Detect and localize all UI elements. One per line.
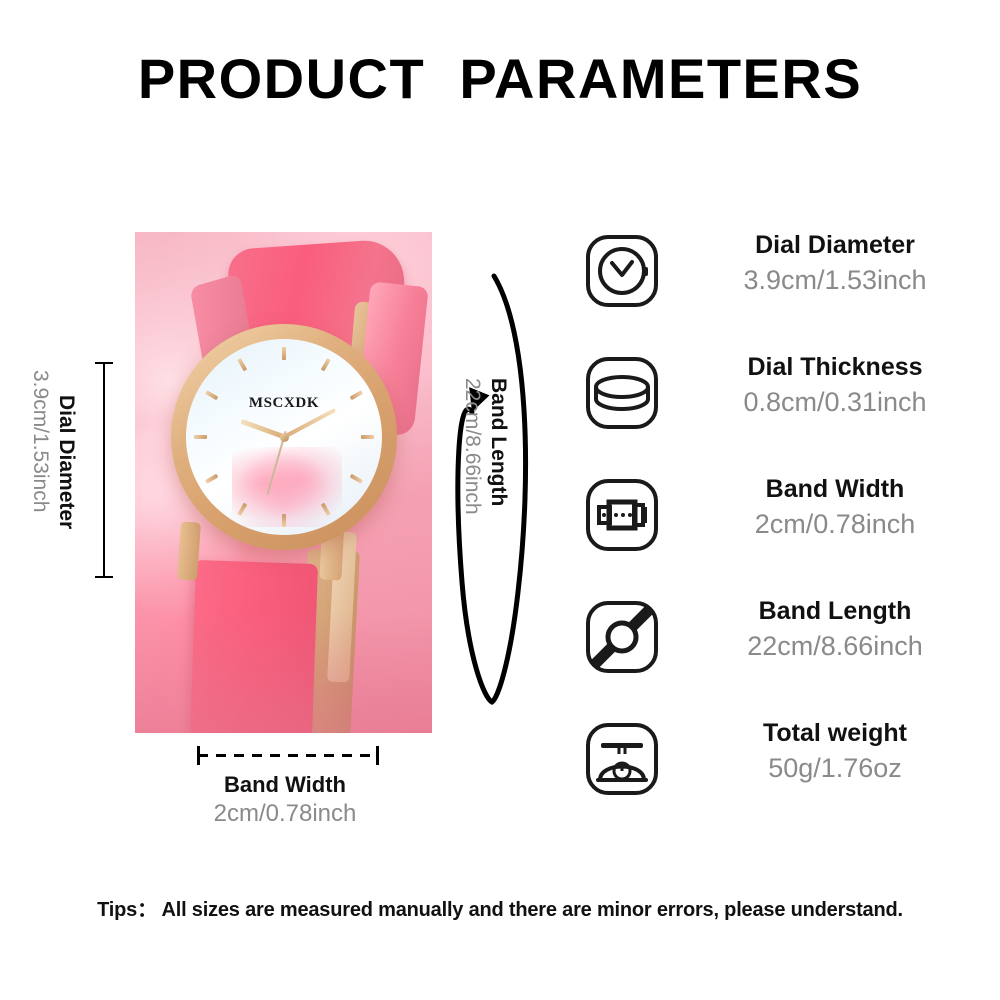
tips-note: Tips： All sizes are measured manually an… [0,893,1000,922]
dial-marker [194,435,207,439]
spec-value: 2cm/0.78inch [687,506,983,542]
watch-hour-hand [240,419,285,439]
dial-diameter-callout-label: Dial Diameter [54,395,78,529]
dial-diameter-callout-value: 3.9cm/1.53inch [28,370,52,512]
band-width-callout-value: 2cm/0.78inch [135,800,435,828]
page-title: PRODUCT PARAMETERS [0,46,1000,111]
spec-row-total-weight: Total weight 50g/1.76oz [583,716,983,838]
spec-text-dial-thickness: Dial Thickness 0.8cm/0.31inch [687,350,983,420]
kitchen-scale-icon [583,720,661,798]
spec-label: Band Length [687,594,983,628]
band-length-callout-value: 22cm/8.66inch [460,378,484,515]
watch-case: MSCXDK [171,324,397,550]
watch-diagonal-icon [583,598,661,676]
watch-dial: MSCXDK [186,339,382,535]
spec-value: 3.9cm/1.53inch [687,262,983,298]
spec-row-band-length: Band Length 22cm/8.66inch [583,594,983,716]
watch-minute-hand [283,408,336,439]
spec-text-total-weight: Total weight 50g/1.76oz [687,716,983,786]
photo-bottom-shadow [135,613,432,733]
dial-marker [321,358,331,371]
spec-label: Dial Diameter [687,228,983,262]
spec-value: 22cm/8.66inch [687,628,983,664]
watch-hand-pivot [280,433,289,442]
dial-marker [350,474,363,484]
band-length-callout-label: Band Length [486,378,510,506]
dial-diameter-measure-line [103,362,105,578]
spec-label: Dial Thickness [687,350,983,384]
watch-lug-left [177,521,201,580]
band-width-measure-line [198,754,378,757]
dial-marker [282,347,286,360]
spec-value: 50g/1.76oz [687,750,983,786]
spec-label: Band Width [687,472,983,506]
dial-flower-pattern [232,447,342,527]
product-parameters-page: PRODUCT PARAMETERS MSCXDK [0,0,1000,1000]
dial-marker [282,514,286,527]
watch-dial-icon [583,232,661,310]
dial-marker [205,474,218,484]
spec-list: Dial Diameter 3.9cm/1.53inch Dial Thickn… [583,228,983,838]
band-width-callout-label: Band Width [135,772,435,798]
dial-marker [237,358,247,371]
cylinder-thickness-icon [583,354,661,432]
spec-text-band-width: Band Width 2cm/0.78inch [687,472,983,542]
spec-text-dial-diameter: Dial Diameter 3.9cm/1.53inch [687,228,983,298]
spec-text-band-length: Band Length 22cm/8.66inch [687,594,983,664]
spec-label: Total weight [687,716,983,750]
product-photo: MSCXDK [135,232,432,733]
dial-marker [361,435,374,439]
spec-row-dial-thickness: Dial Thickness 0.8cm/0.31inch [583,350,983,472]
spec-row-band-width: Band Width 2cm/0.78inch [583,472,983,594]
spec-value: 0.8cm/0.31inch [687,384,983,420]
buckle-clasp-icon [583,476,661,554]
spec-row-dial-diameter: Dial Diameter 3.9cm/1.53inch [583,228,983,350]
